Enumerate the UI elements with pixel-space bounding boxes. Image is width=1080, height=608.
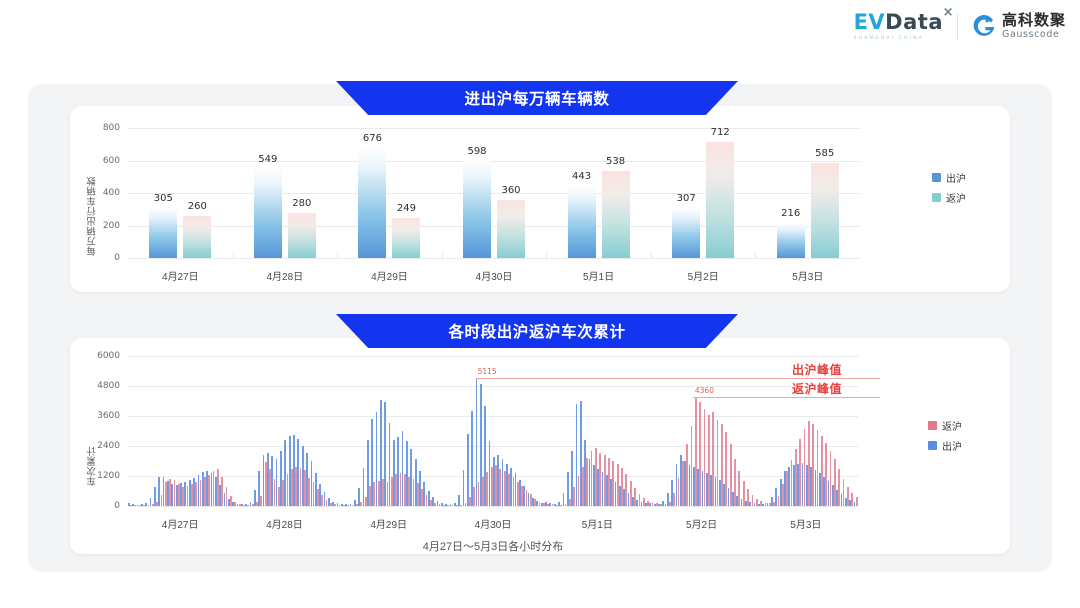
y-tick-label: 800: [70, 123, 120, 133]
peak-out-reference-line: [476, 378, 880, 379]
header-logos: EVData× SHANGHAI CHINA 高科数聚 Gausscode: [854, 12, 1066, 41]
x-axis-label: 4月29日: [371, 268, 408, 283]
hourly-chart-legend: 返沪出沪: [928, 418, 962, 453]
bar-返沪-4月30日: [497, 200, 525, 259]
x-axis-label: 5月1日: [583, 268, 614, 283]
gridline: [128, 161, 860, 162]
y-tick-label: 6000: [70, 351, 120, 361]
y-tick-label: 0: [70, 253, 120, 263]
bar-返沪-4月29日: [392, 218, 420, 258]
chart-title-banner-hourly: 各时段出沪返沪车次累计: [336, 314, 738, 348]
y-tick-label: 600: [70, 156, 120, 166]
legend-item-返沪[interactable]: 返沪: [932, 190, 966, 205]
bar-value-label: 360: [501, 185, 520, 196]
bar-返沪-5月1日: [602, 171, 630, 258]
gausscode-logo: 高科数聚 Gausscode: [972, 13, 1066, 40]
bar-value-label: 307: [677, 193, 696, 204]
bar-出沪-5月2日: [672, 208, 700, 258]
gausscode-en-name: Gausscode: [1002, 30, 1066, 40]
peak-ret-reference-line: [693, 397, 880, 398]
bar-出沪-4月29日: [358, 148, 386, 258]
legend-item-出沪[interactable]: 出沪: [928, 438, 962, 453]
bar-value-label: 260: [188, 201, 207, 212]
bar-出沪-4月27日: [149, 208, 177, 258]
x-tick-separator: [546, 253, 547, 258]
x-axis-label: 5月1日: [582, 516, 613, 531]
hourly-trips-bar-chart: 车次累计 012002400360048006000 5115出沪峰值4360返…: [70, 338, 1010, 554]
bar-value-label: 443: [572, 171, 591, 182]
evdata-wordmark: EVData×: [854, 12, 943, 33]
bar-value-label: 549: [258, 154, 277, 165]
gridline: [128, 446, 858, 447]
x-axis-label: 4月28日: [267, 268, 304, 283]
legend-item-返沪[interactable]: 返沪: [928, 418, 962, 433]
peak-ret-label: 返沪峰值: [792, 380, 842, 397]
bar-value-label: 676: [363, 133, 382, 144]
peak-ret-value: 4360: [695, 386, 714, 395]
y-tick-label: 4800: [70, 381, 120, 391]
peak-out-value: 5115: [478, 367, 497, 376]
daily-chart-legend: 出沪返沪: [932, 170, 966, 205]
x-axis-label: 5月2日: [688, 268, 719, 283]
legend-swatch-icon: [932, 193, 941, 202]
y-tick-label: 3600: [70, 411, 120, 421]
gausscode-mark-icon: [972, 15, 996, 39]
legend-swatch-icon: [928, 441, 937, 450]
x-tick-separator: [755, 253, 756, 258]
evdata-ev-text: EV: [854, 10, 886, 34]
bar-value-label: 538: [606, 156, 625, 167]
legend-label: 出沪: [946, 170, 966, 185]
bar-出沪-4月30日: [463, 161, 491, 258]
gridline: [128, 193, 860, 194]
x-axis-label: 4月28日: [266, 516, 303, 531]
daily-vehicle-bar-chart: 每万辆出行车辆数 0200400600800 30526054928067624…: [70, 106, 1010, 292]
hourly-bar-out: [463, 470, 465, 506]
hourly-chart-x-caption: 4月27日～5月3日各小时分布: [423, 538, 564, 554]
bar-返沪-5月3日: [811, 163, 839, 258]
bar-value-label: 249: [397, 203, 416, 214]
legend-swatch-icon: [932, 173, 941, 182]
x-axis-label: 4月30日: [476, 268, 513, 283]
gridline: [128, 416, 858, 417]
x-axis-label: 5月3日: [792, 268, 823, 283]
evdata-tagline: SHANGHAI CHINA: [854, 36, 925, 41]
bar-value-label: 712: [711, 127, 730, 138]
bar-出沪-4月28日: [254, 169, 282, 258]
bar-返沪-4月27日: [183, 216, 211, 258]
page-root: EVData× SHANGHAI CHINA 高科数聚 Gausscode 进出…: [0, 0, 1080, 608]
bar-返沪-4月28日: [288, 213, 316, 259]
x-axis-label: 4月29日: [370, 516, 407, 531]
legend-swatch-icon: [928, 421, 937, 430]
x-tick-separator: [651, 253, 652, 258]
evdata-logo: EVData× SHANGHAI CHINA: [854, 12, 943, 41]
x-axis-label: 4月30日: [475, 516, 512, 531]
x-tick-separator: [233, 253, 234, 258]
bar-出沪-5月1日: [568, 186, 596, 258]
gridline: [128, 128, 860, 129]
x-axis-label: 4月27日: [162, 268, 199, 283]
x-axis-label: 5月3日: [790, 516, 821, 531]
legend-item-出沪[interactable]: 出沪: [932, 170, 966, 185]
evdata-x-icon: ×: [943, 6, 954, 19]
bar-value-label: 216: [781, 208, 800, 219]
legend-label: 返沪: [942, 418, 962, 433]
gridline: [128, 356, 858, 357]
gridline: [128, 226, 860, 227]
bar-出沪-5月3日: [777, 223, 805, 258]
logo-divider: [957, 14, 958, 40]
bar-value-label: 305: [154, 193, 173, 204]
gridline: [128, 258, 860, 259]
y-tick-label: 1200: [70, 471, 120, 481]
y-tick-label: 2400: [70, 441, 120, 451]
y-tick-label: 200: [70, 221, 120, 231]
bar-value-label: 280: [292, 198, 311, 209]
gausscode-cn-name: 高科数聚: [1002, 13, 1066, 28]
x-tick-separator: [337, 253, 338, 258]
bar-value-label: 598: [467, 146, 486, 157]
gausscode-text: 高科数聚 Gausscode: [1002, 13, 1066, 40]
legend-label: 出沪: [942, 438, 962, 453]
chart-title-banner-daily: 进出沪每万辆车辆数: [336, 81, 738, 115]
x-axis-label: 5月2日: [686, 516, 717, 531]
y-tick-label: 0: [70, 501, 120, 511]
x-axis-label: 4月27日: [162, 516, 199, 531]
gridline: [128, 386, 858, 387]
x-tick-separator: [442, 253, 443, 258]
bar-返沪-5月2日: [706, 142, 734, 258]
hourly-bar-ret: [856, 497, 858, 506]
legend-label: 返沪: [946, 190, 966, 205]
hourly-bar-out: [467, 434, 469, 507]
gridline: [128, 506, 858, 507]
bar-value-label: 585: [815, 148, 834, 159]
y-tick-label: 400: [70, 188, 120, 198]
evdata-data-text: Data: [885, 10, 943, 34]
peak-out-label: 出沪峰值: [792, 361, 842, 378]
